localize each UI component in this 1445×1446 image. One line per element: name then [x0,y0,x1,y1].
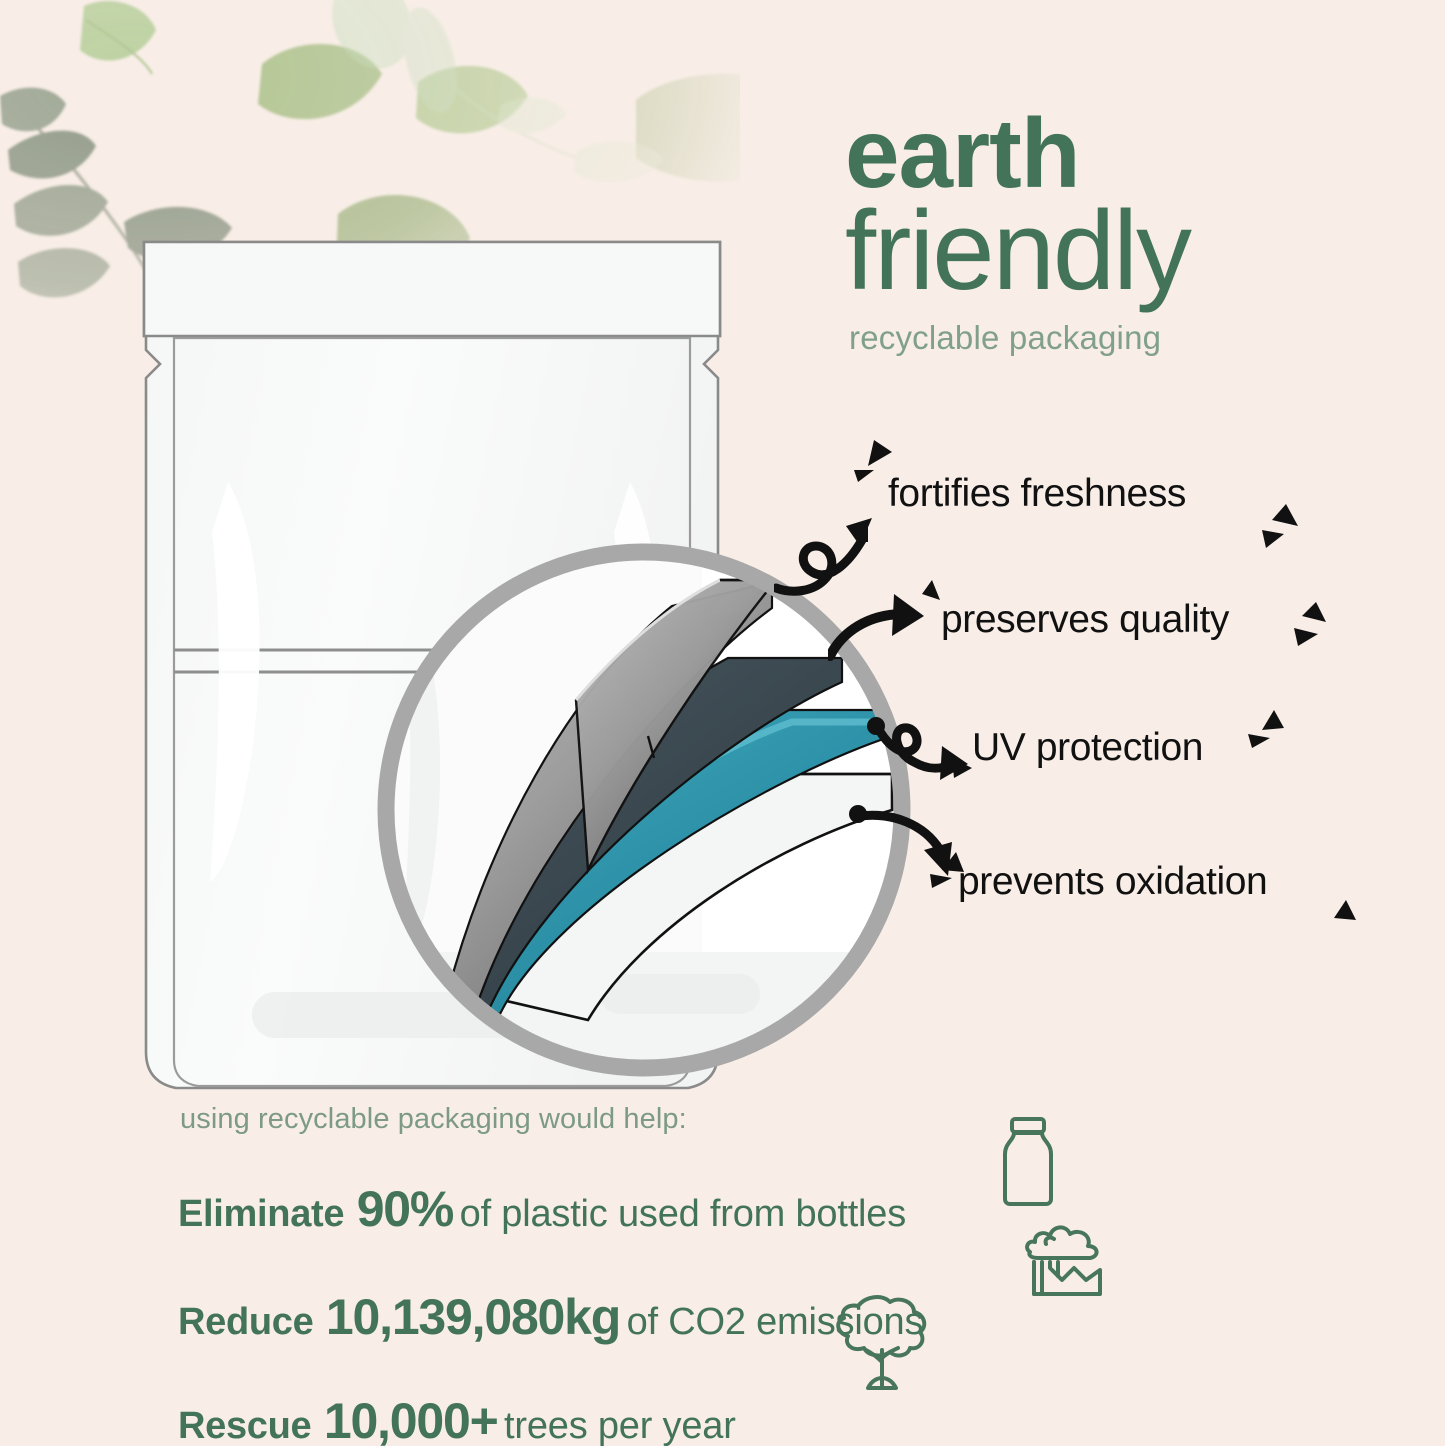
stat-row: Rescue 10,000+ trees per year [178,1392,1238,1446]
bottle-icon [997,1116,1059,1208]
heading-block: earth friendly recyclable packaging [845,108,1405,357]
sparkle-icon [1322,896,1362,936]
infographic-canvas: earth friendly recyclable packaging fort… [0,0,1445,1446]
stat-verb: Rescue [178,1405,311,1446]
stat-value: 10,000+ [324,1393,498,1446]
feature-label-uv-protection: UV protection [972,726,1203,770]
film-layer-magnifier [372,522,932,1102]
heading-subtitle: recyclable packaging [849,319,1405,357]
feature-label-preserves-quality: preserves quality [941,598,1229,642]
stat-value: 10,139,080kg [326,1289,620,1345]
stat-row: Reduce 10,139,080kg of CO2 emissions [178,1288,1238,1362]
stat-tail: trees per year [504,1405,736,1446]
heading-line-earth: earth [845,108,1405,198]
stat-verb: Eliminate [178,1193,344,1235]
stat-verb: Reduce [178,1301,313,1343]
sparkle-cluster-icon [1244,708,1294,756]
factory-icon [1022,1214,1106,1298]
heading-line-friendly: friendly [845,198,1405,304]
tree-icon [822,1292,932,1398]
feature-label-prevents-oxidation: prevents oxidation [958,860,1267,904]
sparkle-cluster-icon [1254,502,1310,562]
stat-value: 90% [357,1181,453,1237]
feature-label-fortifies-freshness: fortifies freshness [888,472,1186,516]
stat-tail: of plastic used from bottles [460,1193,906,1235]
sparkle-cluster-icon [1288,598,1336,660]
stats-intro: using recyclable packaging would help: [180,1103,1238,1136]
